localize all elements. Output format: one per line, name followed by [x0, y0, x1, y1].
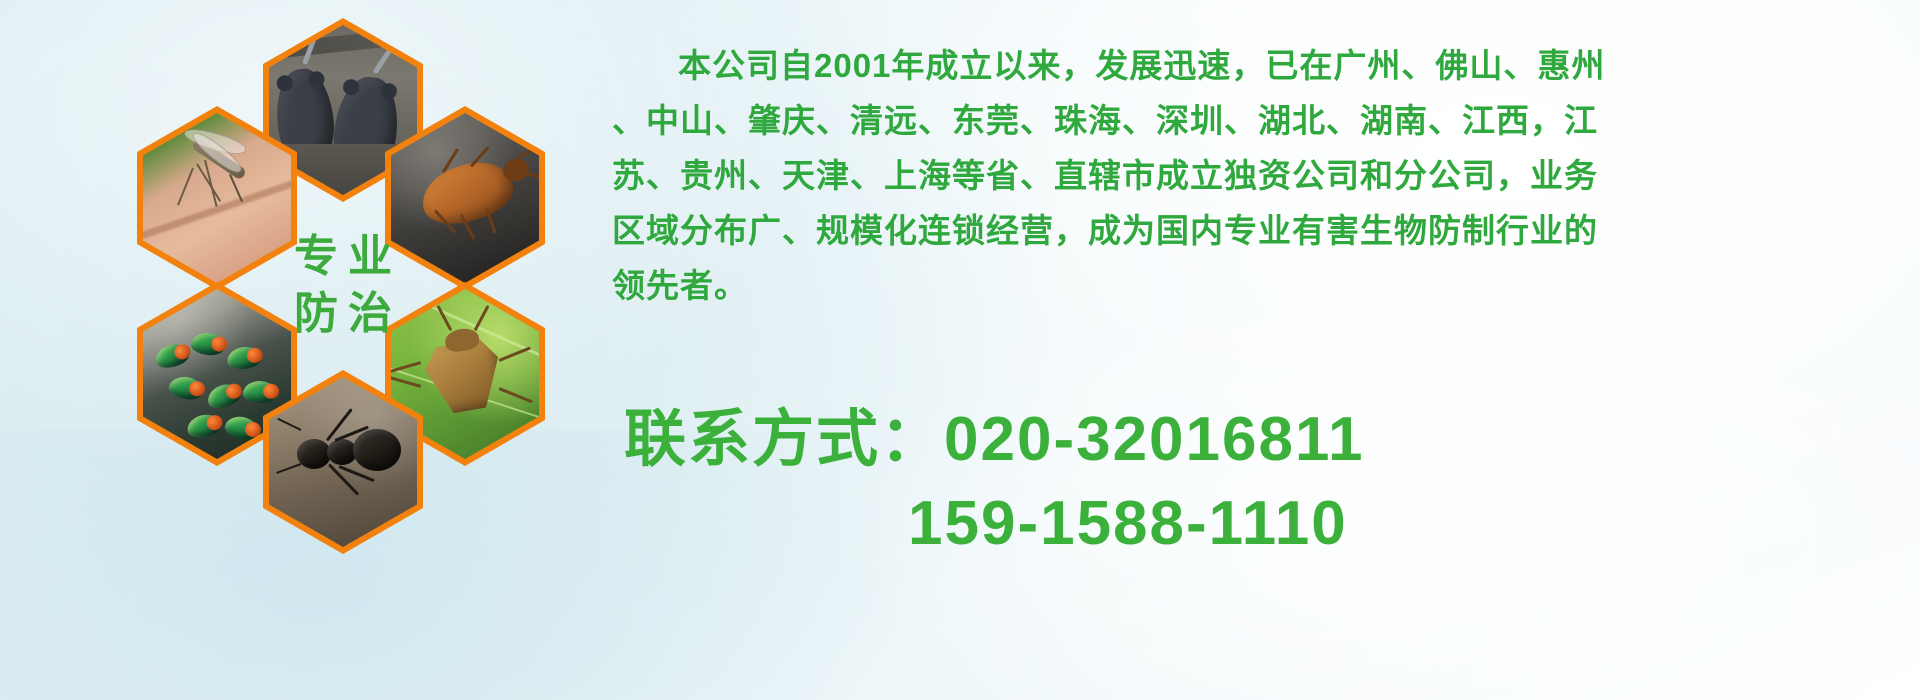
rat-ear-icon — [308, 70, 326, 88]
ant-gaster-icon — [353, 429, 401, 471]
badge-line-2: 防治 — [284, 291, 402, 338]
rat-ear-icon — [276, 74, 294, 92]
stink-bug-leg-icon — [498, 387, 533, 403]
stink-bug-leg-icon — [498, 346, 531, 362]
rat-ear-icon — [380, 82, 398, 100]
rat-tail-icon — [372, 29, 405, 75]
badge-line-1: 专业 — [284, 234, 402, 281]
hex-center-badge: 专业 防治 — [263, 194, 423, 378]
ant-head-icon — [297, 439, 331, 469]
contact-info: 联系方式：020-32016811 159-1588-1110 — [624, 398, 1874, 566]
contact-phone-landline[interactable]: 联系方式：020-32016811 — [624, 398, 1874, 482]
fly-icon — [242, 380, 277, 404]
ant-image — [269, 377, 417, 547]
hexagon-photo-cluster: 专业 防治 — [95, 10, 595, 570]
ant-antenna-icon — [276, 463, 301, 474]
ant-antenna-icon — [277, 418, 301, 431]
fly-icon — [190, 331, 227, 358]
mosquito-leg-icon — [177, 168, 194, 206]
fly-icon — [226, 345, 262, 370]
contact-phone-mobile[interactable]: 159-1588-1110 — [624, 482, 1874, 566]
fly-icon — [185, 412, 222, 440]
mosquito-leg-icon — [204, 160, 218, 207]
fly-icon — [223, 413, 262, 444]
description-line: 、中山、肇庆、清远、东莞、珠海、深圳、湖北、湖南、江西，江 — [612, 93, 1908, 148]
description-line: 领先者。 — [612, 258, 1908, 313]
stink-bug-antenna-icon — [437, 305, 453, 331]
hex-photo-ant-frame — [269, 377, 417, 547]
rat-ear-icon — [342, 78, 360, 96]
rat-tail-icon — [302, 25, 325, 65]
description-line: 区域分布广、规模化连锁经营，成为国内专业有害生物防制行业的 — [612, 203, 1908, 258]
fly-icon — [204, 380, 243, 411]
description-line: 苏、贵州、天津、上海等省、直辖市成立独资公司和分公司，业务 — [612, 148, 1908, 203]
company-description: 本公司自2001年成立以来，发展迅速，已在广州、佛山、惠州 、中山、肇庆、清远、… — [612, 38, 1908, 313]
fly-icon — [167, 374, 205, 403]
description-line: 本公司自2001年成立以来，发展迅速，已在广州、佛山、惠州 — [612, 38, 1908, 93]
company-intro-banner: 专业 防治 本公司自2001年成立以来，发展迅速，已在广州、佛山、惠州 、中山、… — [0, 0, 1920, 700]
fly-icon — [153, 341, 191, 371]
cockroach-antenna-icon — [516, 140, 539, 160]
